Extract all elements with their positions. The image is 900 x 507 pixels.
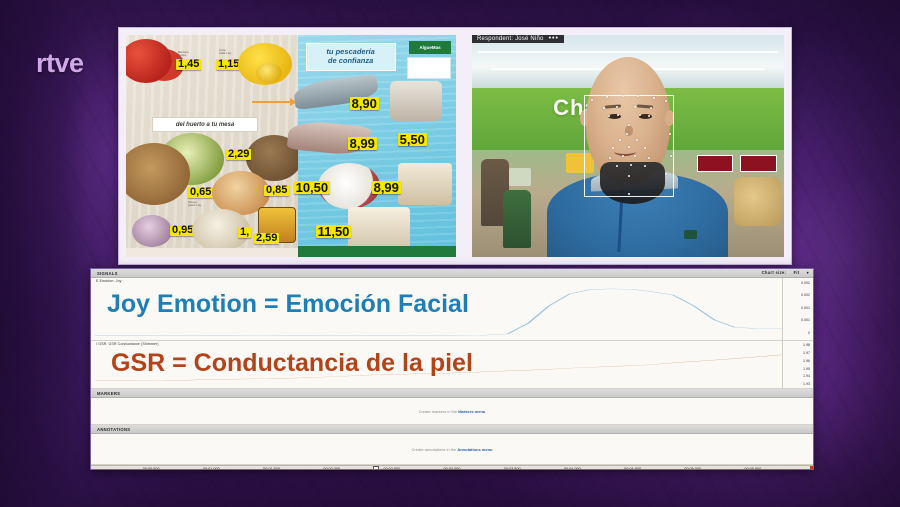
rtve-logo: rtve	[36, 50, 84, 77]
timeline-label-4: 00:02.500	[383, 467, 400, 470]
timeline-ruler[interactable]: 00:00.50000:01.00000:01.50000:02.00000:0…	[91, 465, 813, 470]
annotations-body: Create annotations in the Annotations me…	[91, 434, 813, 465]
timeline-label-9: 00:05.000	[684, 467, 701, 470]
shelf-produce-3	[509, 168, 531, 186]
markers-section-header: MARKERS	[91, 389, 813, 398]
flyer-right-footer	[298, 246, 456, 257]
timeline-label-5: 00:03.000	[444, 467, 461, 470]
timeline-label-1: 00:01.000	[203, 467, 220, 470]
flyer-banner-huerto: del huerto a tu mesa	[152, 117, 258, 132]
signal-label-joy: E Emotion: Joy	[96, 279, 122, 283]
flyer-fish-section: tu pescadería de confianza AlgueMas 8,90…	[298, 35, 456, 257]
flyer-brand-logo: AlgueMas	[409, 41, 451, 54]
y-tick-joy-1: 0.002	[801, 293, 810, 297]
timeline-end-marker	[810, 466, 813, 470]
annotations-hint-text: Create annotations in the	[412, 447, 458, 452]
signal-row-joy[interactable]: E Emotion: Joy 0.002 0.002 0.001 0.001 0…	[91, 278, 813, 341]
shelf-produce-4	[734, 177, 781, 226]
timeline-label-0: 00:00.500	[143, 467, 160, 470]
caption-joy-emotion: Joy Emotion = Emoción Facial	[107, 292, 469, 317]
markers-hint: Create markers in the Markers menu	[419, 409, 486, 414]
product-fillets	[398, 163, 452, 205]
ceiling-beam-1	[478, 51, 778, 53]
y-axis-joy: 0.002 0.002 0.001 0.001 0	[782, 278, 813, 340]
store-red-sign-1	[697, 155, 733, 173]
respondent-name-label: Respondent: José Niño	[477, 36, 544, 42]
timeline-playhead[interactable]	[373, 466, 379, 470]
background-shopper-2	[503, 190, 531, 248]
signal-row-gsr[interactable]: I GSR: GSR Conductance (Shimmer) 1.98 1.…	[91, 341, 813, 389]
y-tick-gsr-4: 1.94	[803, 374, 810, 378]
price-tag-13: 10,50	[294, 181, 331, 194]
price-tag-11: 8,99	[348, 137, 377, 150]
stimulus-panel: ManzanaGolden1 kg 1,45 Limónmalla 1 kg 1…	[126, 35, 456, 257]
screenshot-root: rtve ManzanaGolden1 kg 1,45 Limónmalla 1…	[0, 0, 900, 507]
caption-gsr: GSR = Conductancia de la piel	[111, 351, 473, 376]
flyer-left-footer	[126, 248, 298, 257]
store-red-sign-2	[740, 155, 776, 173]
polo-logo	[684, 230, 697, 239]
y-tick-joy-0: 0.002	[801, 281, 810, 285]
price-tag-9: 2,59	[254, 233, 279, 244]
y-tick-gsr-5: 1.93	[803, 382, 810, 386]
banner-line-2: de confianza	[328, 57, 373, 66]
product-squid	[390, 81, 442, 121]
respondent-name-bar: Respondent: José Niño •••	[472, 35, 564, 43]
timeline-label-6: 00:03.500	[504, 467, 521, 470]
price-tag-10: 8,90	[350, 97, 379, 110]
timeline-label-8: 00:04.500	[624, 467, 641, 470]
chart-size-label: Chart size:	[756, 270, 787, 275]
signal-label-gsr: I GSR: GSR Conductance (Shimmer)	[96, 342, 159, 346]
timeline-label-7: 00:04.000	[564, 467, 581, 470]
y-tick-gsr-0: 1.98	[803, 343, 810, 347]
timeline-label-3: 00:02.000	[323, 467, 340, 470]
y-tick-joy-4: 0	[808, 331, 810, 335]
annotations-section-header: ANNOTATIONS	[91, 425, 813, 434]
y-tick-gsr-2: 1.96	[803, 359, 810, 363]
price-tag-15: 11,50	[316, 225, 352, 238]
annotations-section-title: ANNOTATIONS	[91, 427, 130, 432]
supermarket-flyer-image: ManzanaGolden1 kg 1,45 Limónmalla 1 kg 1…	[126, 35, 456, 257]
price-tag-8: 1,	[238, 227, 251, 238]
chart-size-control[interactable]: Chart size: Fit ▾	[756, 269, 809, 277]
markers-menu-link[interactable]: Markers menu	[458, 409, 485, 414]
product-garlic	[132, 215, 172, 247]
price-tag-14: 8,99	[372, 181, 401, 194]
signals-section-header: SIGNALS Chart size: Fit ▾	[91, 269, 813, 278]
price-tag-1: 1,45	[176, 59, 201, 70]
y-axis-gsr: 1.98 1.97 1.96 1.95 1.94 1.93	[782, 341, 813, 388]
product-hake	[348, 207, 410, 249]
annotations-menu-link[interactable]: Annotations menu	[457, 447, 492, 452]
product-desc-lemons: Limónmalla 1 kg	[219, 49, 241, 55]
product-lemon-extra	[256, 63, 282, 83]
flyer-arrow-indicator	[252, 101, 296, 103]
price-tag-12: 5,50	[398, 133, 427, 146]
price-tag-6: 0,85	[264, 185, 289, 196]
y-tick-joy-3: 0.001	[801, 318, 810, 322]
y-tick-joy-2: 0.001	[801, 306, 810, 310]
markers-hint-text: Create markers in the	[419, 409, 459, 414]
more-options-icon[interactable]: •••	[549, 37, 559, 41]
store-background: Cham	[472, 35, 784, 257]
y-tick-gsr-3: 1.95	[803, 367, 810, 371]
product-desc-nuts: Nuecesgranel 1 kg	[188, 201, 214, 207]
y-tick-gsr-1: 1.97	[803, 351, 810, 355]
chart-size-value[interactable]: Fit	[787, 270, 799, 275]
flyer-produce-section: ManzanaGolden1 kg 1,45 Limónmalla 1 kg 1…	[126, 35, 298, 257]
timeline-label-10: 00:05.500	[744, 467, 761, 470]
markers-body: Create markers in the Markers menu	[91, 398, 813, 425]
media-card: ManzanaGolden1 kg 1,45 Limónmalla 1 kg 1…	[118, 27, 792, 265]
price-tag-4: 2,29	[226, 149, 251, 160]
price-tag-5: 0,65	[188, 187, 213, 198]
flyer-info-box	[407, 57, 451, 79]
chevron-down-icon[interactable]: ▾	[801, 270, 809, 275]
annotations-hint: Create annotations in the Annotations me…	[412, 447, 493, 452]
signal-analysis-window: SIGNALS Chart size: Fit ▾ E Emotion: Joy…	[90, 268, 814, 470]
respondent-video-panel[interactable]: Cham	[472, 35, 784, 257]
signals-section-title: SIGNALS	[91, 271, 118, 276]
markers-section-title: MARKERS	[91, 391, 120, 396]
flyer-banner-pescaderia: tu pescadería de confianza	[306, 43, 396, 71]
timeline-label-2: 00:01.500	[263, 467, 280, 470]
